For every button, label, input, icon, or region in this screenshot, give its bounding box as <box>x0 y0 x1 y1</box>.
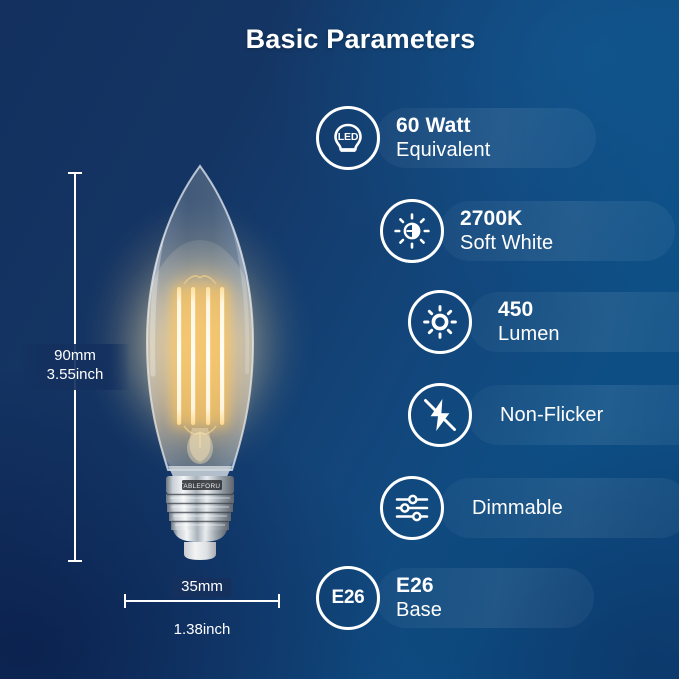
e26-base-icon: E26 <box>316 566 380 630</box>
spec-row-base[interactable]: E26 E26 Base <box>316 562 442 634</box>
height-mm: 90mm <box>14 347 136 366</box>
brightness-sun-icon <box>408 290 472 354</box>
spec-primary: 450 <box>498 298 560 322</box>
page-title: Basic Parameters <box>0 24 679 55</box>
spec-text: E26 Base <box>396 574 442 622</box>
spec-secondary: Lumen <box>498 322 560 346</box>
spec-text: 2700K Soft White <box>460 207 553 255</box>
width-inch: 1.38inch <box>122 621 282 640</box>
non-flicker-icon <box>408 383 472 447</box>
spec-secondary: Equivalent <box>396 138 490 162</box>
color-temperature-icon <box>380 199 444 263</box>
led-bulb-icon: LED <box>316 106 380 170</box>
e26-icon-label: E26 <box>332 587 365 609</box>
spec-text: Dimmable <box>472 497 563 520</box>
spec-row-wattage[interactable]: LED 60 Watt Equivalent <box>316 102 490 174</box>
height-dimension-label: 90mm 3.55inch <box>14 347 136 385</box>
spec-primary: 60 Watt <box>396 114 490 138</box>
spec-row-color-temperature[interactable]: 2700K Soft White <box>380 195 553 267</box>
spec-text: 450 Lumen <box>498 298 560 346</box>
svg-text:LED: LED <box>338 131 359 143</box>
product-bulb-image: TABLEFORU <box>110 160 290 570</box>
spec-list: LED 60 Watt Equivalent 2700 <box>300 92 679 652</box>
width-dimension-label: 35mm 1.38inch <box>122 578 282 640</box>
base-brand-text: TABLEFORU <box>180 483 221 490</box>
spec-text: 60 Watt Equivalent <box>396 114 490 162</box>
spec-primary: Non-Flicker <box>500 404 603 427</box>
spec-primary: Dimmable <box>472 497 563 520</box>
spec-row-non-flicker[interactable]: Non-Flicker <box>408 379 603 451</box>
spec-secondary: Base <box>396 598 442 622</box>
height-inch: 3.55inch <box>14 366 136 385</box>
width-mm: 35mm <box>173 578 231 597</box>
dimmable-sliders-icon <box>380 476 444 540</box>
spec-secondary: Soft White <box>460 231 553 255</box>
spec-row-dimmable[interactable]: Dimmable <box>380 472 563 544</box>
spec-primary: 2700K <box>460 207 553 231</box>
spec-row-lumen[interactable]: 450 Lumen <box>408 286 560 358</box>
spec-text: Non-Flicker <box>500 404 603 427</box>
spec-primary: E26 <box>396 574 442 598</box>
